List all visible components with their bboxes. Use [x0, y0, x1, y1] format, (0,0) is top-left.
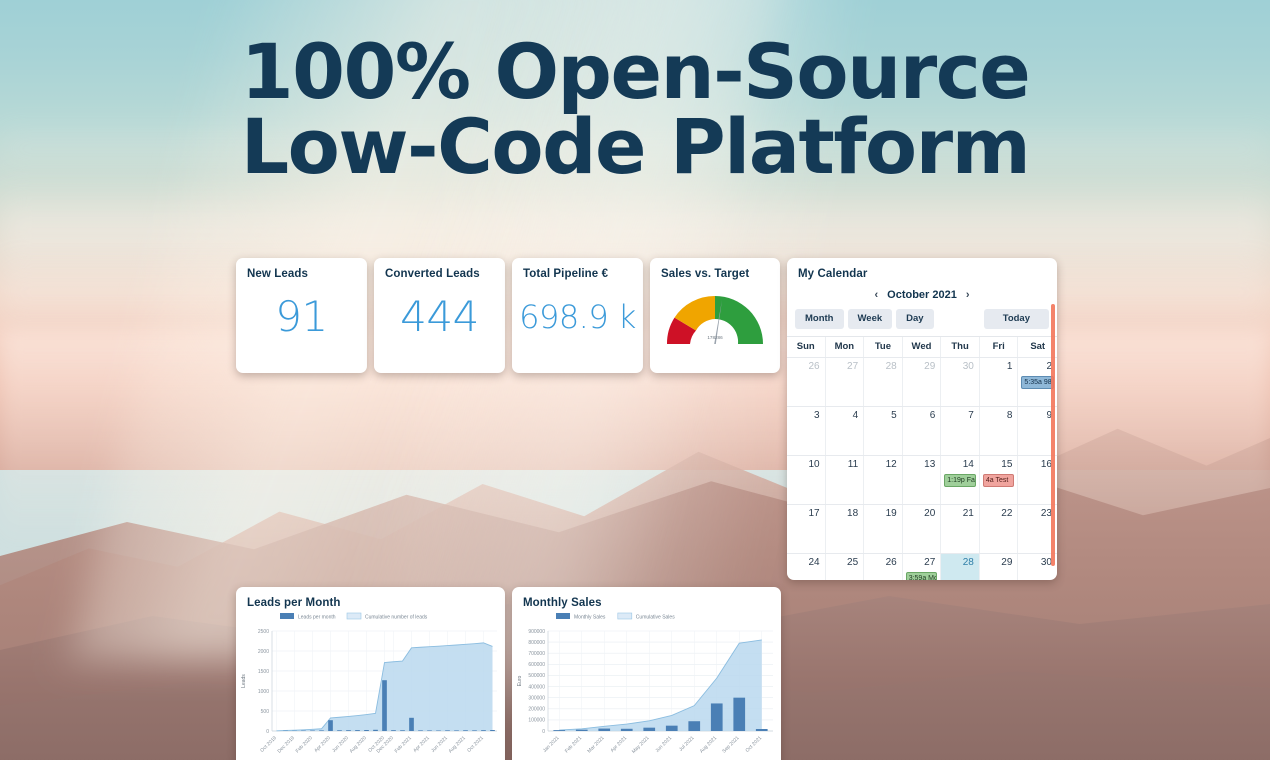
calendar-day-number: 20 — [903, 508, 936, 519]
y-tick-label: 0 — [542, 729, 545, 735]
calendar-day-number: 30 — [941, 361, 974, 372]
legend-label-bar: Monthly Sales — [574, 615, 606, 621]
calendar-day-number: 14 — [941, 459, 974, 470]
calendar-event[interactable]: 5:35a 98 — [1021, 376, 1054, 389]
calendar-view-month[interactable]: Month — [795, 309, 844, 329]
weekday-sun: Sun — [787, 337, 826, 357]
x-tick-label: Jun 2021 — [430, 735, 449, 754]
calendar-day-number: 27 — [826, 361, 859, 372]
charts-row-spacer — [788, 587, 1058, 760]
calendar-body: 2627282930125:35a 98345678910111213141:1… — [787, 357, 1057, 581]
bar — [621, 729, 633, 731]
leads-per-month-chart: Leads per monthCumulative number of lead… — [236, 609, 505, 760]
calendar-day-cell[interactable]: 28 — [941, 554, 980, 581]
y-tick-label: 1500 — [258, 669, 269, 675]
y-tick-label: 1000 — [258, 689, 269, 695]
calendar-event[interactable]: 4a Test — [983, 474, 1015, 487]
legend-swatch-area — [347, 613, 361, 619]
legend-swatch-bar — [556, 613, 570, 619]
calendar-today-button[interactable]: Today — [984, 309, 1049, 329]
x-tick-label: Oct 2019 — [259, 735, 278, 754]
y-tick-label: 500000 — [528, 673, 545, 679]
calendar-day-cell[interactable]: 18 — [826, 505, 865, 553]
kpi-value-new-leads: 91 — [236, 292, 367, 341]
y-tick-label: 2000 — [258, 649, 269, 655]
calendar-day-number: 26 — [864, 557, 897, 568]
calendar-day-number: 7 — [941, 410, 974, 421]
legend-label-bar: Leads per month — [298, 615, 336, 621]
calendar-day-cell[interactable]: 30 — [941, 358, 980, 406]
legend-swatch-area — [618, 613, 632, 619]
calendar-day-number: 21 — [941, 508, 974, 519]
x-tick-label: Feb 2020 — [295, 735, 314, 754]
calendar-event[interactable]: 1:19p Fair — [944, 474, 976, 487]
bar — [733, 698, 745, 731]
calendar-day-cell[interactable]: 13 — [903, 456, 942, 504]
calendar-day-cell[interactable]: 8 — [980, 407, 1019, 455]
chart-card-monthly-sales[interactable]: Monthly Sales Monthly SalesCumulative Sa… — [512, 587, 781, 760]
bar — [355, 730, 360, 731]
bar — [598, 729, 610, 731]
calendar-grid: Sun Mon Tue Wed Thu Fri Sat 262728293012… — [787, 336, 1057, 581]
calendar-scrollbar[interactable] — [1051, 304, 1055, 566]
prev-month-icon[interactable]: ‹ — [872, 289, 880, 301]
kpi-row: New Leads 91 Converted Leads 444 Total P… — [236, 258, 1060, 580]
x-tick-label: Oct 2021 — [745, 735, 764, 754]
calendar-day-cell[interactable]: 27 — [826, 358, 865, 406]
x-tick-label: Dec 2019 — [277, 735, 297, 755]
x-tick-label: Sep 2021 — [721, 735, 741, 755]
calendar-day-cell[interactable]: 19 — [864, 505, 903, 553]
kpi-card-total-pipeline[interactable]: Total Pipeline € 698.9 k — [512, 258, 643, 373]
hero-headline-line-2: Low-Code Platform — [0, 109, 1270, 184]
calendar-day-number: 8 — [980, 410, 1013, 421]
calendar-day-cell[interactable]: 10 — [787, 456, 826, 504]
monthly-sales-chart: Monthly SalesCumulative Sales01000002000… — [512, 609, 781, 760]
legend-swatch-bar — [280, 613, 294, 619]
calendar-week-row: 10111213141:19p Fair154a Test16 — [787, 455, 1057, 504]
calendar-month-label: October 2021 — [887, 289, 957, 301]
calendar-day-cell[interactable]: 29 — [903, 358, 942, 406]
calendar-toolbar: Month Week Day Today — [787, 309, 1057, 329]
chart-plot-area: Monthly SalesCumulative Sales01000002000… — [512, 609, 781, 760]
calendar-day-cell[interactable]: 6 — [903, 407, 942, 455]
bar — [400, 730, 405, 731]
kpi-card-converted-leads[interactable]: Converted Leads 444 — [374, 258, 505, 373]
calendar-title: My Calendar — [787, 258, 1057, 280]
bar — [445, 730, 450, 731]
weekday-tue: Tue — [864, 337, 903, 357]
calendar-day-cell[interactable]: 21 — [941, 505, 980, 553]
gauge-svg: 178286 — [659, 284, 771, 352]
calendar-day-number: 1 — [980, 361, 1013, 372]
x-tick-label: Aug 2020 — [349, 735, 369, 755]
bar — [382, 680, 387, 731]
weekday-mon: Mon — [826, 337, 865, 357]
calendar-day-cell[interactable]: 11 — [826, 456, 865, 504]
calendar-view-week[interactable]: Week — [848, 309, 893, 329]
chart-title-leads-per-month: Leads per Month — [236, 587, 505, 609]
bar — [756, 729, 768, 731]
weekday-thu: Thu — [941, 337, 980, 357]
y-axis-label: Euro — [517, 676, 523, 687]
calendar-day-number: 3 — [787, 410, 820, 421]
kpi-card-sales-vs-target[interactable]: Sales vs. Target 178286 — [650, 258, 780, 373]
y-tick-label: 200000 — [528, 707, 545, 713]
bar — [454, 730, 459, 731]
y-tick-label: 300000 — [528, 695, 545, 701]
charts-row: Leads per Month Leads per monthCumulativ… — [236, 587, 1060, 760]
calendar-week-row: 3456789 — [787, 406, 1057, 455]
calendar-day-cell[interactable]: 5 — [864, 407, 903, 455]
y-tick-label: 500 — [261, 709, 270, 715]
bar — [409, 718, 414, 731]
calendar-day-number: 12 — [864, 459, 897, 470]
calendar-view-day[interactable]: Day — [896, 309, 933, 329]
weekday-wed: Wed — [903, 337, 942, 357]
bar — [576, 730, 588, 731]
bar — [490, 730, 495, 731]
gauge-value-label: 178286 — [707, 335, 723, 340]
y-tick-label: 800000 — [528, 640, 545, 646]
calendar-day-number: 16 — [1018, 459, 1052, 470]
calendar-week-row: 2627282930125:35a 98 — [787, 357, 1057, 406]
gauge-chart: 178286 — [650, 284, 780, 352]
calendar-day-number: 29 — [903, 361, 936, 372]
y-tick-label: 700000 — [528, 651, 545, 657]
calendar-nav: ‹ October 2021 › — [787, 289, 1057, 301]
calendar-day-cell[interactable]: 26 — [864, 554, 903, 581]
calendar-day-cell[interactable]: 141:19p Fair — [941, 456, 980, 504]
bar — [319, 730, 324, 731]
calendar-day-number: 15 — [980, 459, 1013, 470]
calendar-day-number: 25 — [826, 557, 859, 568]
chart-plot-area: Leads per monthCumulative number of lead… — [236, 609, 505, 760]
calendar-day-number: 6 — [903, 410, 936, 421]
kpi-value-converted-leads: 444 — [374, 292, 505, 341]
kpi-title-total-pipeline: Total Pipeline € — [512, 258, 643, 280]
calendar-day-number: 11 — [826, 459, 859, 470]
x-tick-label: May 2021 — [631, 735, 651, 755]
calendar-day-number: 19 — [864, 508, 897, 519]
calendar-card[interactable]: My Calendar ‹ October 2021 › Month Week … — [787, 258, 1057, 580]
chart-card-leads-per-month[interactable]: Leads per Month Leads per monthCumulativ… — [236, 587, 505, 760]
calendar-day-cell[interactable]: 20 — [903, 505, 942, 553]
calendar-day-number: 27 — [903, 557, 936, 568]
x-tick-label: Jul 2021 — [678, 735, 696, 753]
calendar-day-number: 17 — [787, 508, 820, 519]
calendar-day-number: 18 — [826, 508, 859, 519]
calendar-day-number: 29 — [980, 557, 1013, 568]
kpi-title-sales-vs-target: Sales vs. Target — [650, 258, 780, 280]
x-tick-label: Feb 2021 — [394, 735, 413, 754]
bar — [666, 726, 678, 731]
x-tick-label: Aug 2021 — [699, 735, 719, 755]
calendar-day-cell[interactable]: 273:59a Mo — [903, 554, 942, 581]
bar — [463, 730, 468, 731]
bar — [472, 730, 477, 731]
calendar-day-cell[interactable]: 4 — [826, 407, 865, 455]
calendar-day-cell[interactable]: 7 — [941, 407, 980, 455]
bar — [711, 703, 723, 731]
bar — [427, 730, 432, 731]
x-tick-label: Oct 2021 — [466, 735, 485, 754]
calendar-day-number: 5 — [864, 410, 897, 421]
calendar-day-cell[interactable]: 3 — [787, 407, 826, 455]
bar — [391, 730, 396, 731]
y-tick-label: 400000 — [528, 684, 545, 690]
legend-label-area: Cumulative number of leads — [365, 615, 428, 621]
x-tick-label: Apr 2020 — [313, 735, 332, 754]
calendar-day-number: 4 — [826, 410, 859, 421]
calendar-weekday-header: Sun Mon Tue Wed Thu Fri Sat — [787, 337, 1057, 357]
bar — [328, 720, 333, 731]
bar — [553, 730, 565, 731]
x-tick-label: Jun 2021 — [654, 735, 673, 754]
calendar-day-cell[interactable]: 24 — [787, 554, 826, 581]
bar — [337, 730, 342, 731]
calendar-day-number: 2 — [1018, 361, 1052, 372]
calendar-day-number: 22 — [980, 508, 1013, 519]
calendar-day-number: 28 — [864, 361, 897, 372]
bar — [643, 728, 655, 731]
chart-title-monthly-sales: Monthly Sales — [512, 587, 781, 609]
calendar-week-row: 242526273:59a Mo282930 — [787, 553, 1057, 581]
calendar-day-cell[interactable]: 154a Test — [980, 456, 1019, 504]
x-tick-label: Jan 2021 — [542, 735, 561, 754]
calendar-day-cell[interactable]: 12 — [864, 456, 903, 504]
x-tick-label: Apr 2021 — [610, 735, 629, 754]
kpi-title-converted-leads: Converted Leads — [374, 258, 505, 280]
y-tick-label: 0 — [266, 729, 269, 735]
calendar-day-number: 24 — [787, 557, 820, 568]
y-tick-label: 600000 — [528, 662, 545, 668]
y-axis-label: Leads — [241, 674, 247, 688]
hero-headline: 100% Open-Source Low-Code Platform — [0, 34, 1270, 184]
bar — [373, 730, 378, 731]
weekday-fri: Fri — [980, 337, 1019, 357]
y-tick-label: 2500 — [258, 629, 269, 635]
calendar-day-number: 26 — [787, 361, 820, 372]
next-month-icon[interactable]: › — [964, 289, 972, 301]
calendar-day-cell[interactable]: 29 — [980, 554, 1019, 581]
calendar-day-cell[interactable]: 17 — [787, 505, 826, 553]
bar — [418, 730, 423, 731]
calendar-day-cell[interactable]: 22 — [980, 505, 1019, 553]
x-tick-label: Apr 2021 — [412, 735, 431, 754]
calendar-week-row: 17181920212223 — [787, 504, 1057, 553]
calendar-event[interactable]: 3:59a Mo — [906, 572, 938, 581]
y-tick-label: 100000 — [528, 718, 545, 724]
calendar-day-number: 10 — [787, 459, 820, 470]
dashboard: New Leads 91 Converted Leads 444 Total P… — [236, 258, 1060, 760]
bar — [364, 730, 369, 731]
calendar-day-cell[interactable]: 26 — [787, 358, 826, 406]
x-tick-label: Mar 2021 — [586, 735, 605, 754]
bar — [481, 730, 486, 731]
area-series-fill — [559, 640, 762, 731]
calendar-day-number: 28 — [941, 557, 974, 568]
kpi-value-total-pipeline: 698.9 k — [512, 298, 643, 336]
kpi-title-new-leads: New Leads — [236, 258, 367, 280]
x-tick-label: Feb 2021 — [564, 735, 583, 754]
calendar-day-cell[interactable]: 1 — [980, 358, 1019, 406]
calendar-day-number: 30 — [1018, 557, 1052, 568]
x-tick-label: Jun 2020 — [331, 735, 350, 754]
bar — [346, 730, 351, 731]
y-tick-label: 900000 — [528, 629, 545, 635]
legend-label-area: Cumulative Sales — [636, 615, 675, 621]
calendar-day-cell[interactable]: 25 — [826, 554, 865, 581]
kpi-card-new-leads[interactable]: New Leads 91 — [236, 258, 367, 373]
calendar-day-number: 13 — [903, 459, 936, 470]
x-tick-label: Aug 2021 — [448, 735, 468, 755]
calendar-day-cell[interactable]: 28 — [864, 358, 903, 406]
calendar-day-number: 9 — [1018, 410, 1052, 421]
calendar-day-number: 23 — [1018, 508, 1052, 519]
bar — [688, 721, 700, 731]
